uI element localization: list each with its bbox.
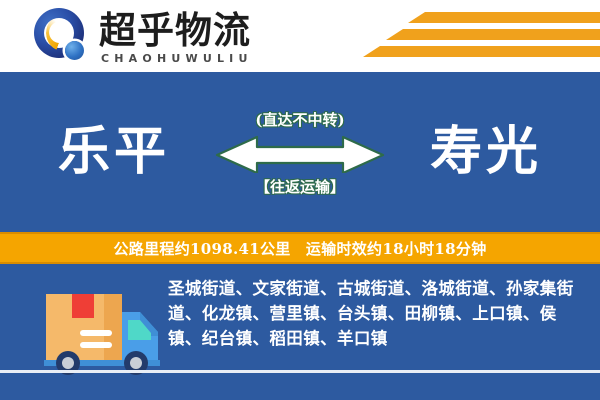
delivery-truck-icon	[28, 278, 168, 376]
bottom-divider	[0, 370, 600, 373]
brand-name-en: CHAOHUWULIU	[99, 52, 253, 66]
brand-logo: 超乎物流 CHAOHUWULIU	[34, 8, 253, 66]
header-bar: 超乎物流 CHAOHUWULIU	[0, 0, 600, 72]
stripe-1	[408, 12, 600, 23]
coverage-areas-text: 圣城街道、文家街道、古城街道、洛城街道、孙家集街道、化龙镇、营里镇、台头镇、田柳…	[168, 276, 580, 351]
direct-route-note: (直达不中转)	[255, 110, 344, 130]
orange-stripes-decoration	[350, 12, 600, 64]
logo-accent-dot	[65, 41, 84, 60]
origin-city: 乐平	[58, 122, 170, 182]
stripe-2	[386, 29, 600, 40]
round-trip-note: 【往返运输】	[255, 177, 345, 197]
double-headed-arrow-icon	[215, 133, 385, 173]
route-arrow-group: (直达不中转) 【往返运输】	[200, 110, 400, 197]
route-info-bar: 公路里程约1098.41公里 运输时效约18小时18分钟	[0, 232, 600, 264]
coverage-panel: 圣城街道、文家街道、古城街道、洛城街道、孙家集街道、化龙镇、营里镇、台头镇、田柳…	[0, 264, 600, 400]
route-panel: 乐平 (直达不中转) 【往返运输】 寿光	[0, 72, 600, 232]
stripe-3	[363, 46, 600, 57]
logistics-banner: 超乎物流 CHAOHUWULIU 乐平 (直达不中转) 【往返运输】 寿光 公路…	[0, 0, 600, 400]
brand-name-cn: 超乎物流	[99, 8, 251, 52]
distance-duration-text: 公路里程约1098.41公里 运输时效约18小时18分钟	[114, 238, 487, 259]
circle-crescent-logo-icon	[34, 8, 92, 66]
destination-city: 寿光	[430, 122, 542, 182]
brand-text-block: 超乎物流 CHAOHUWULIU	[99, 8, 253, 66]
